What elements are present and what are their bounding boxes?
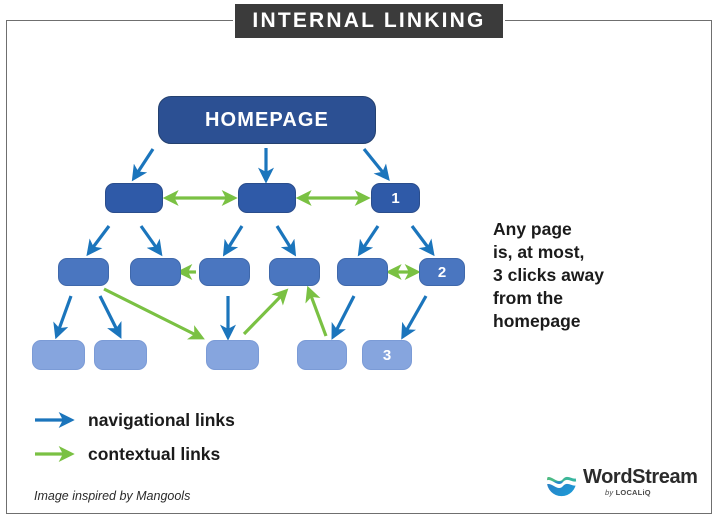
legend-item-navigational: navigational links bbox=[34, 405, 235, 435]
side-note-line-1: Any page bbox=[493, 218, 683, 241]
node-l1-c[interactable]: 1 bbox=[371, 183, 420, 213]
node-l1-b[interactable] bbox=[238, 183, 296, 213]
legend-item-contextual: contextual links bbox=[34, 439, 235, 469]
arrow-right-icon bbox=[34, 411, 76, 429]
wordstream-wordmark: WordStream bbox=[583, 467, 698, 487]
node-l1-a[interactable] bbox=[105, 183, 163, 213]
legend: navigational links contextual links bbox=[34, 405, 235, 473]
node-homepage[interactable]: HOMEPAGE bbox=[158, 96, 376, 144]
page-title: INTERNAL LINKING bbox=[252, 9, 485, 33]
infographic-canvas: INTERNAL LINKING bbox=[0, 0, 720, 521]
side-note-line-4: from the bbox=[493, 287, 683, 310]
node-homepage-label: HOMEPAGE bbox=[205, 109, 329, 132]
node-l2-f-label: 2 bbox=[438, 264, 446, 281]
side-note-line-3: 3 clicks away bbox=[493, 264, 683, 287]
arrow-right-icon bbox=[34, 445, 76, 463]
wordstream-byline: by LOCALiQ bbox=[605, 488, 698, 497]
node-l2-f[interactable]: 2 bbox=[419, 258, 465, 286]
node-l3-b[interactable] bbox=[94, 340, 147, 370]
legend-label-navigational: navigational links bbox=[88, 410, 235, 431]
wordstream-globe-icon bbox=[546, 466, 577, 497]
legend-label-contextual: contextual links bbox=[88, 444, 220, 465]
wordstream-logo[interactable]: WordStream by LOCALiQ bbox=[546, 466, 698, 497]
byline-by: by bbox=[605, 488, 613, 497]
side-note-line-5: homepage bbox=[493, 310, 683, 333]
node-l2-e[interactable] bbox=[337, 258, 388, 286]
node-l2-d[interactable] bbox=[269, 258, 320, 286]
side-note: Any page is, at most, 3 clicks away from… bbox=[493, 218, 683, 333]
node-l3-c[interactable] bbox=[206, 340, 259, 370]
node-l1-c-label: 1 bbox=[391, 190, 399, 207]
side-note-line-2: is, at most, bbox=[493, 241, 683, 264]
node-l2-b[interactable] bbox=[130, 258, 181, 286]
image-credit: Image inspired by Mangools bbox=[34, 489, 190, 503]
byline-parent: LOCALiQ bbox=[616, 488, 651, 497]
node-l2-c[interactable] bbox=[199, 258, 250, 286]
node-l3-e[interactable]: 3 bbox=[362, 340, 412, 370]
wordstream-logo-text: WordStream by LOCALiQ bbox=[583, 467, 698, 497]
node-l3-a[interactable] bbox=[32, 340, 85, 370]
title-banner: INTERNAL LINKING bbox=[233, 2, 505, 40]
node-l2-a[interactable] bbox=[58, 258, 109, 286]
node-l3-d[interactable] bbox=[297, 340, 347, 370]
node-l3-e-label: 3 bbox=[383, 347, 391, 364]
